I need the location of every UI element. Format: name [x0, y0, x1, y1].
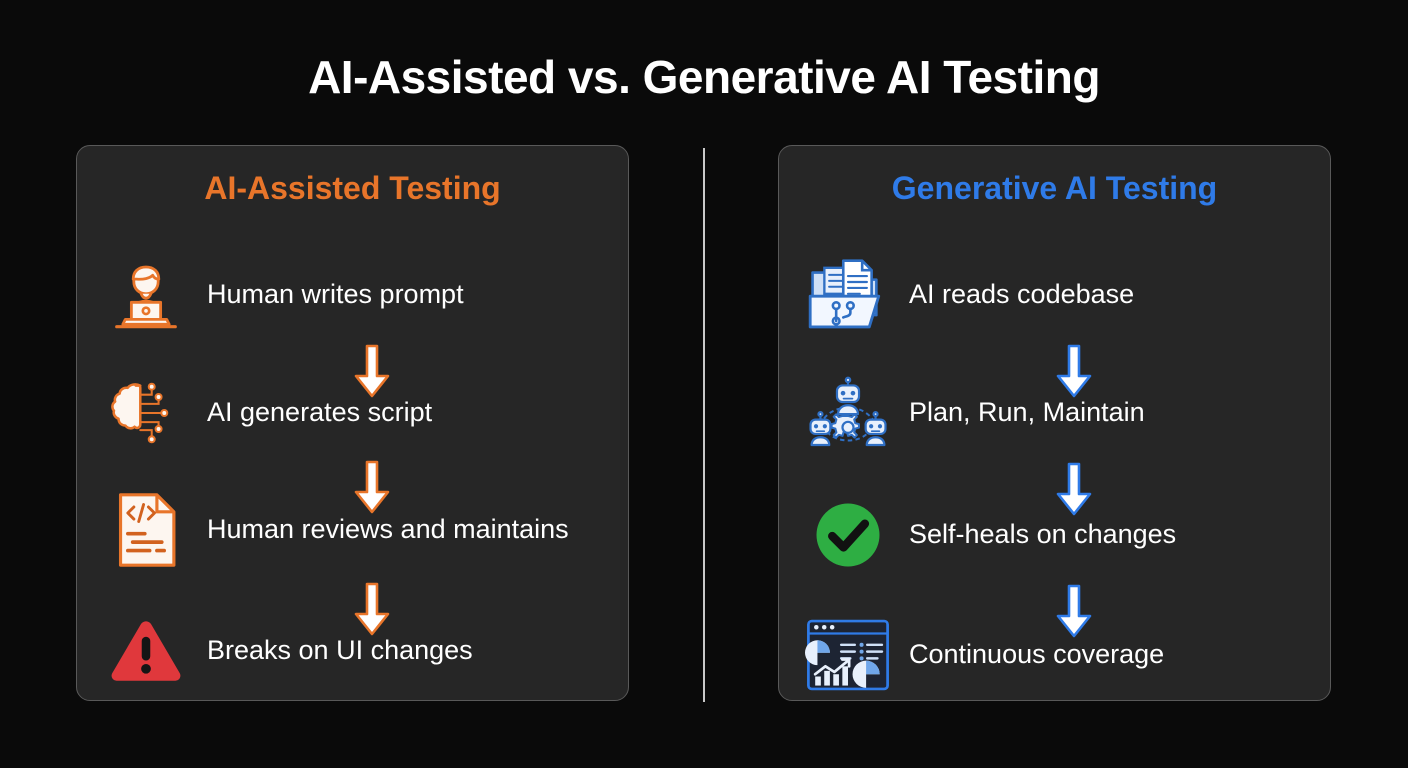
list-item: AI generates script [103, 368, 623, 458]
list-item: AI reads codebase [805, 250, 1325, 340]
code-document-icon [103, 490, 189, 570]
list-item: Continuous coverage [805, 610, 1325, 700]
list-item: Human reviews and maintains [103, 480, 623, 580]
green-check-circle-icon [805, 499, 891, 571]
list-item: Human writes prompt [103, 250, 623, 340]
folder-documents-git-icon [805, 256, 891, 334]
robots-gear-icon [805, 374, 891, 452]
analytics-dashboard-icon [805, 617, 891, 693]
list-item: Breaks on UI changes [103, 606, 623, 696]
list-item: Plan, Run, Maintain [805, 368, 1325, 458]
list-item-label: Plan, Run, Maintain [891, 395, 1145, 430]
panel-title-ai-assisted: AI-Assisted Testing [77, 170, 628, 207]
list-item-label: Continuous coverage [891, 637, 1164, 672]
panel-ai-assisted: AI-Assisted Testing [76, 145, 629, 701]
panel-generative-ai: Generative AI Testing [778, 145, 1331, 701]
warning-triangle-icon [103, 616, 189, 686]
ai-brain-circuit-icon [103, 374, 189, 452]
vertical-divider [703, 148, 705, 702]
list-item-label: AI reads codebase [891, 277, 1134, 312]
list-item-label: Breaks on UI changes [189, 633, 473, 668]
list-item-label: Human reviews and maintains [189, 512, 569, 547]
list-item-label: Self-heals on changes [891, 517, 1176, 552]
page-title: AI-Assisted vs. Generative AI Testing [0, 50, 1408, 104]
list-item-label: Human writes prompt [189, 277, 464, 312]
person-at-laptop-icon [103, 256, 189, 334]
list-item-label: AI generates script [189, 395, 432, 430]
infographic-canvas: AI-Assisted vs. Generative AI Testing AI… [0, 0, 1408, 768]
list-item: Self-heals on changes [805, 490, 1325, 580]
panel-title-generative-ai: Generative AI Testing [779, 170, 1330, 207]
